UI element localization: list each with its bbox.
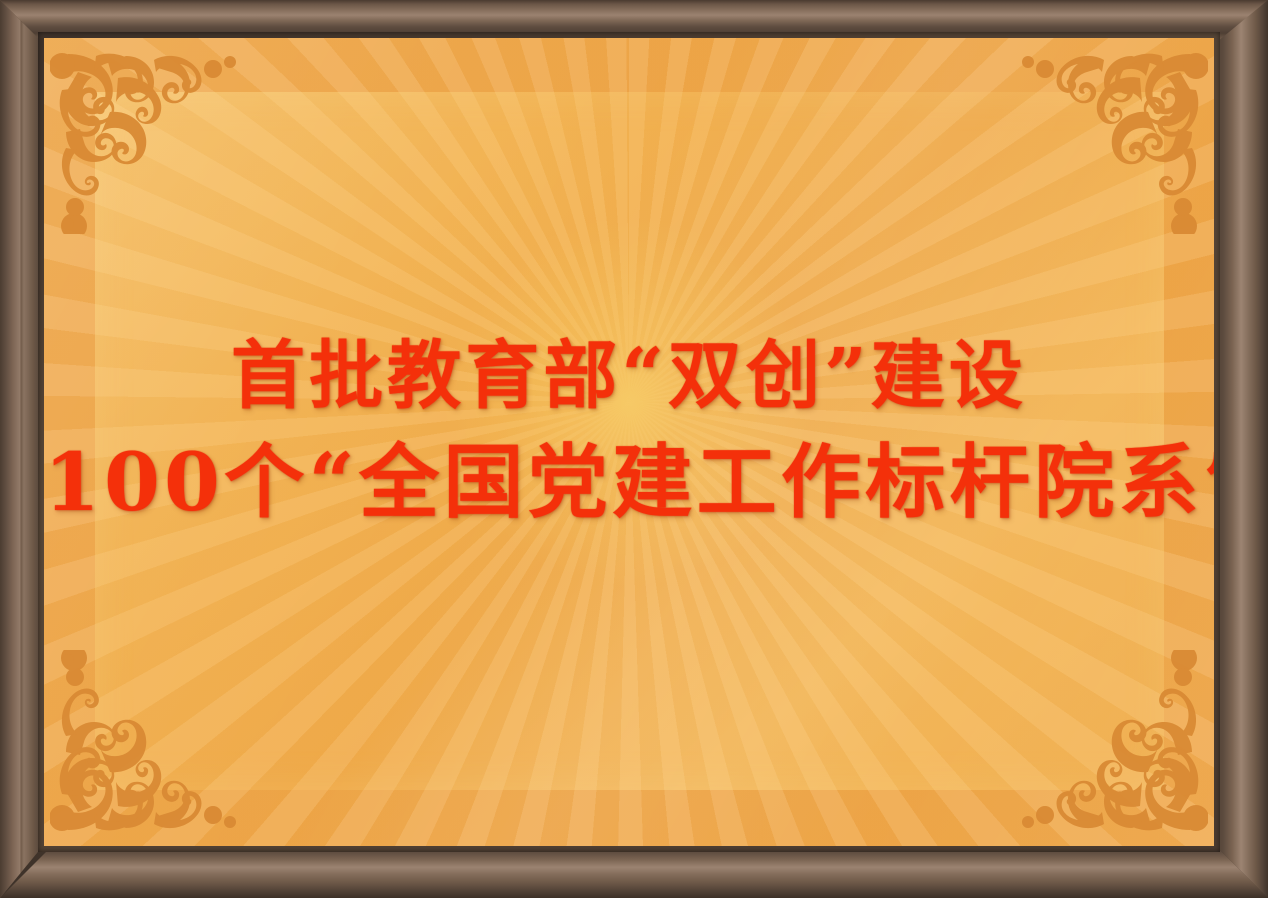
award-title-line-1: 首批教育部“双创”建设 xyxy=(44,328,1214,424)
award-plaque: 首批教育部“双创”建设 100个“全国党建工作标杆院系” xyxy=(0,0,1268,898)
award-title: 首批教育部“双创”建设 100个“全国党建工作标杆院系” xyxy=(44,328,1214,534)
corner-ornament-bottom-left xyxy=(50,650,240,840)
award-title-line-2: 100个“全国党建工作标杆院系” xyxy=(44,430,1214,534)
corner-ornament-bottom-right xyxy=(1018,650,1208,840)
corner-ornament-top-right xyxy=(1018,44,1208,234)
gold-plate: 首批教育部“双创”建设 100个“全国党建工作标杆院系” xyxy=(44,38,1214,846)
corner-ornament-top-left xyxy=(50,44,240,234)
